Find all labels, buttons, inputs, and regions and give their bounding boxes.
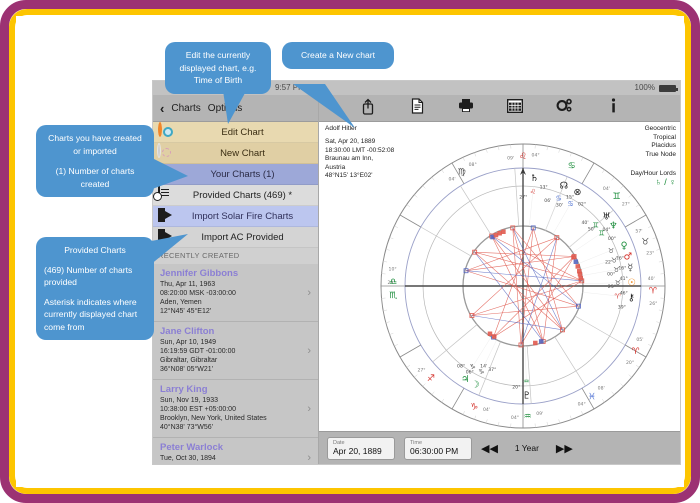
svg-text:04°: 04° <box>511 415 519 421</box>
sidebar-item-import-solar-fire[interactable]: Import Solar Fire Charts <box>153 206 318 227</box>
svg-text:39°: 39° <box>618 304 626 310</box>
battery-percent-label: 100% <box>635 81 655 95</box>
chart-item-date: Tue, Oct 30, 1894 <box>160 454 313 463</box>
chart-item-coords: 36°N08' 05°W21' <box>160 365 313 374</box>
callout-your-charts-line1: Charts you have created or imported <box>44 132 146 157</box>
svg-text:00°: 00° <box>608 236 616 242</box>
svg-text:27°: 27° <box>417 367 425 373</box>
svg-text:♌: ♌ <box>519 152 527 162</box>
screenshot-stage: 9:57 PM 100% <box>16 16 684 487</box>
svg-text:♓: ♓ <box>588 392 596 402</box>
svg-text:40': 40' <box>581 220 588 226</box>
svg-text:23°: 23° <box>646 251 654 257</box>
svg-text:♒: ♒ <box>523 412 531 422</box>
chart-display-panel: Adolf Hitler Sat, Apr 20, 188918:30:00 L… <box>319 122 681 433</box>
svg-text:♉: ♉ <box>608 247 614 255</box>
callout-provided-line1: (469) Number of charts provided <box>44 264 146 289</box>
chart-time-controls: Date Apr 20, 1889 Time 06:30:00 PM ◀◀ 1 … <box>319 431 681 464</box>
svg-text:20°: 20° <box>512 384 520 390</box>
svg-text:♐: ♐ <box>427 374 435 384</box>
svg-text:♀: ♀ <box>621 240 628 251</box>
chart-item-time: 15:55:00 GMT +00:00:00 <box>160 463 313 465</box>
svg-text:27°: 27° <box>519 195 527 201</box>
chart-item-coords: 40°N38' 73°W56' <box>160 423 313 432</box>
svg-text:♈: ♈ <box>649 287 658 297</box>
battery-icon <box>659 85 676 92</box>
svg-text:50': 50' <box>588 227 595 233</box>
back-chevron-icon[interactable]: ‹ <box>160 101 164 116</box>
tablet-app-window: 9:57 PM 100% <box>152 80 681 465</box>
import-arrow-icon <box>158 208 175 224</box>
svg-text:♊: ♊ <box>599 229 605 237</box>
svg-text:04°: 04° <box>532 153 540 159</box>
list-item[interactable]: Jane CliftonSun, Apr 10, 194916:19:59 GD… <box>153 322 318 380</box>
svg-text:♉: ♉ <box>641 238 649 248</box>
chart-item-date: Thu, Apr 11, 1963 <box>160 280 313 289</box>
svg-text:♇: ♇ <box>523 390 532 401</box>
svg-text:♊: ♊ <box>612 192 620 202</box>
document-icon[interactable] <box>406 98 428 119</box>
svg-text:☊: ☊ <box>560 180 568 191</box>
svg-text:09': 09' <box>536 411 543 417</box>
chart-item-coords: 12°N45' 45°E12' <box>160 307 313 316</box>
svg-text:04': 04' <box>483 407 490 413</box>
chart-item-time: 16:19:59 GDT -01:00:00 <box>160 347 313 356</box>
chart-item-name: Peter Warlock <box>160 442 313 453</box>
sidebar-item-label: New Chart <box>181 148 318 159</box>
gear-icon[interactable] <box>553 98 575 119</box>
svg-text:05': 05' <box>636 337 643 343</box>
time-field-value: 06:30:00 PM <box>410 446 466 456</box>
svg-text:25°: 25° <box>608 284 616 290</box>
chart-item-name: Jane Clifton <box>160 326 313 337</box>
svg-text:♑: ♑ <box>470 403 478 413</box>
svg-text:00°: 00° <box>607 272 615 278</box>
svg-text:09': 09' <box>507 156 514 162</box>
svg-text:04': 04' <box>449 176 456 182</box>
chart-item-time: 08:20:00 MSK -03:00:00 <box>160 289 313 298</box>
svg-text:♍: ♍ <box>458 167 466 177</box>
svg-text:⚷: ⚷ <box>628 293 635 304</box>
svg-text:46°: 46° <box>620 290 628 296</box>
callout-new-chart: Create a New chart <box>282 42 394 69</box>
print-icon[interactable] <box>455 98 477 119</box>
astrology-chart-wheel[interactable]: ♌04°09'♋♊27°04'♉23°57'♈26°40'♈20°05'♓04°… <box>377 140 669 432</box>
recently-created-list[interactable]: Jennifer GibbonsThu, Apr 11, 196308:20:0… <box>153 264 318 465</box>
svg-text:♋: ♋ <box>568 162 576 172</box>
chart-item-date: Sun, Nov 19, 1933 <box>160 396 313 405</box>
chart-item-date: Sun, Apr 10, 1949 <box>160 338 313 347</box>
svg-text:06': 06' <box>544 198 551 204</box>
back-label[interactable]: Charts <box>171 103 200 114</box>
colored-ring-icon <box>158 124 175 140</box>
svg-text:13°: 13° <box>540 185 548 191</box>
svg-text:♎: ♎ <box>389 278 397 288</box>
chart-item-place: Gibraltar, Gibraltar <box>160 356 313 365</box>
svg-text:♆: ♆ <box>609 220 618 231</box>
svg-text:37°: 37° <box>488 367 496 373</box>
info-icon[interactable] <box>602 98 624 119</box>
svg-text:10°: 10° <box>389 266 397 272</box>
chart-item-name: Larry King <box>160 384 313 395</box>
step-backward-button[interactable]: ◀◀ <box>481 442 498 455</box>
svg-text:27°: 27° <box>622 202 630 208</box>
sidebar-item-label: Import Solar Fire Charts <box>181 211 318 222</box>
svg-text:08°: 08° <box>469 162 477 168</box>
step-forward-button[interactable]: ▶▶ <box>556 442 573 455</box>
sidebar-item-label: Provided Charts (469) * <box>181 190 318 201</box>
chevron-right-icon: › <box>307 403 311 415</box>
svg-text:♈: ♈ <box>632 347 641 357</box>
callout-provided-title: Provided Charts <box>44 244 146 257</box>
time-field[interactable]: Time 06:30:00 PM <box>404 437 472 460</box>
svg-text:04°: 04° <box>578 401 586 407</box>
date-field[interactable]: Date Apr 20, 1889 <box>327 437 395 460</box>
svg-text:☿: ☿ <box>627 262 633 273</box>
chevron-right-icon: › <box>307 345 311 357</box>
callout-tail-new <box>291 84 381 132</box>
svg-text:26°: 26° <box>649 301 657 307</box>
svg-text:☉: ☉ <box>628 278 637 289</box>
callout-provided-line2: Asterisk indicates where currently displ… <box>44 296 146 334</box>
svg-text:⊗: ⊗ <box>574 187 582 198</box>
callout-edit-chart: Edit the currently displayed chart, e.g.… <box>165 42 271 94</box>
sidebar-item-label: Your Charts (1) <box>181 169 318 180</box>
chart-item-time: 10:38:00 EST +05:00:00 <box>160 405 313 414</box>
svg-text:08°: 08° <box>457 363 465 369</box>
chart-item-place: Brooklyn, New York, United States <box>160 414 313 423</box>
svg-text:02°: 02° <box>578 202 586 208</box>
svg-text:04': 04' <box>603 186 610 192</box>
chevron-right-icon: › <box>307 452 311 464</box>
svg-text:♏: ♏ <box>389 291 397 301</box>
svg-text:22': 22' <box>605 259 612 265</box>
svg-text:♋: ♋ <box>567 200 573 208</box>
chart-item-place: Aden, Yemen <box>160 298 313 307</box>
svg-text:♃: ♃ <box>461 374 470 385</box>
list-item[interactable]: Peter WarlockTue, Oct 30, 189415:55:00 G… <box>153 438 318 465</box>
svg-text:☽: ☽ <box>471 379 480 390</box>
svg-text:20°: 20° <box>626 360 634 366</box>
callout-provided-charts: Provided Charts (469) Number of charts p… <box>36 237 154 340</box>
list-item[interactable]: Larry KingSun, Nov 19, 193310:38:00 EST … <box>153 380 318 438</box>
sidebar-item-label: Import AC Provided <box>181 232 318 243</box>
svg-text:08': 08' <box>598 386 605 392</box>
svg-text:♄: ♄ <box>530 173 539 184</box>
date-field-value: Apr 20, 1889 <box>333 446 389 456</box>
callout-your-charts: Charts you have created or imported (1) … <box>36 125 154 197</box>
svg-text:30': 30' <box>556 202 563 208</box>
svg-text:♂: ♂ <box>624 251 633 262</box>
calendar-icon[interactable] <box>504 98 526 119</box>
svg-text:57': 57' <box>635 228 642 234</box>
svg-text:40': 40' <box>648 276 655 282</box>
chevron-right-icon: › <box>307 287 311 299</box>
step-interval-label[interactable]: 1 Year <box>507 443 547 453</box>
callout-your-charts-line2: (1) Number of charts created <box>44 165 146 190</box>
svg-text:14': 14' <box>480 363 487 369</box>
